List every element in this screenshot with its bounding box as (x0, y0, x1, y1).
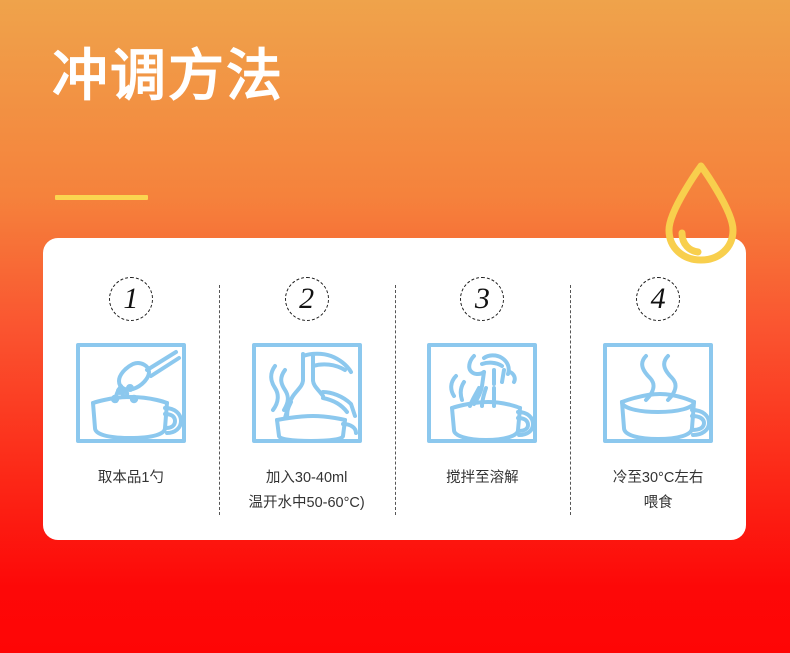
step-caption-line-2: 温开水中50-60°C) (249, 491, 365, 516)
step-caption: 搅拌至溶解 (446, 466, 519, 491)
step-caption: 加入30-40ml 温开水中50-60°C) (249, 466, 365, 516)
page-title: 冲调方法 (52, 42, 284, 110)
kettle-pouring-water-into-cup-icon (251, 342, 363, 444)
step-3: 3 (395, 238, 571, 540)
step-2: 2 加入30-40m (219, 238, 395, 540)
step-caption: 冷至30°C左右 喂食 (613, 466, 703, 516)
title-accent-underline (55, 195, 148, 200)
step-caption-line-1: 搅拌至溶解 (446, 470, 519, 486)
steaming-cup-icon (602, 342, 714, 444)
step-number-badge: 1 (109, 277, 153, 321)
step-number-badge: 3 (460, 277, 504, 321)
step-number-badge: 4 (636, 277, 680, 321)
step-1: 1 (43, 238, 219, 540)
step-caption-line-2: 喂食 (613, 491, 703, 516)
steps-card: 1 (43, 238, 746, 540)
step-caption: 取本品1勺 (98, 466, 164, 491)
step-4: 4 冷至30°C左右 喂食 (570, 238, 746, 540)
step-caption-line-1: 取本品1勺 (98, 470, 164, 486)
preparation-instructions-poster: 冲调方法 1 (0, 0, 790, 653)
step-caption-line-1: 冷至30°C左右 (613, 470, 703, 486)
spoon-pouring-powder-into-cup-icon (75, 342, 187, 444)
hand-stirring-cup-icon (426, 342, 538, 444)
step-caption-line-1: 加入30-40ml (266, 470, 347, 486)
step-number-badge: 2 (285, 277, 329, 321)
